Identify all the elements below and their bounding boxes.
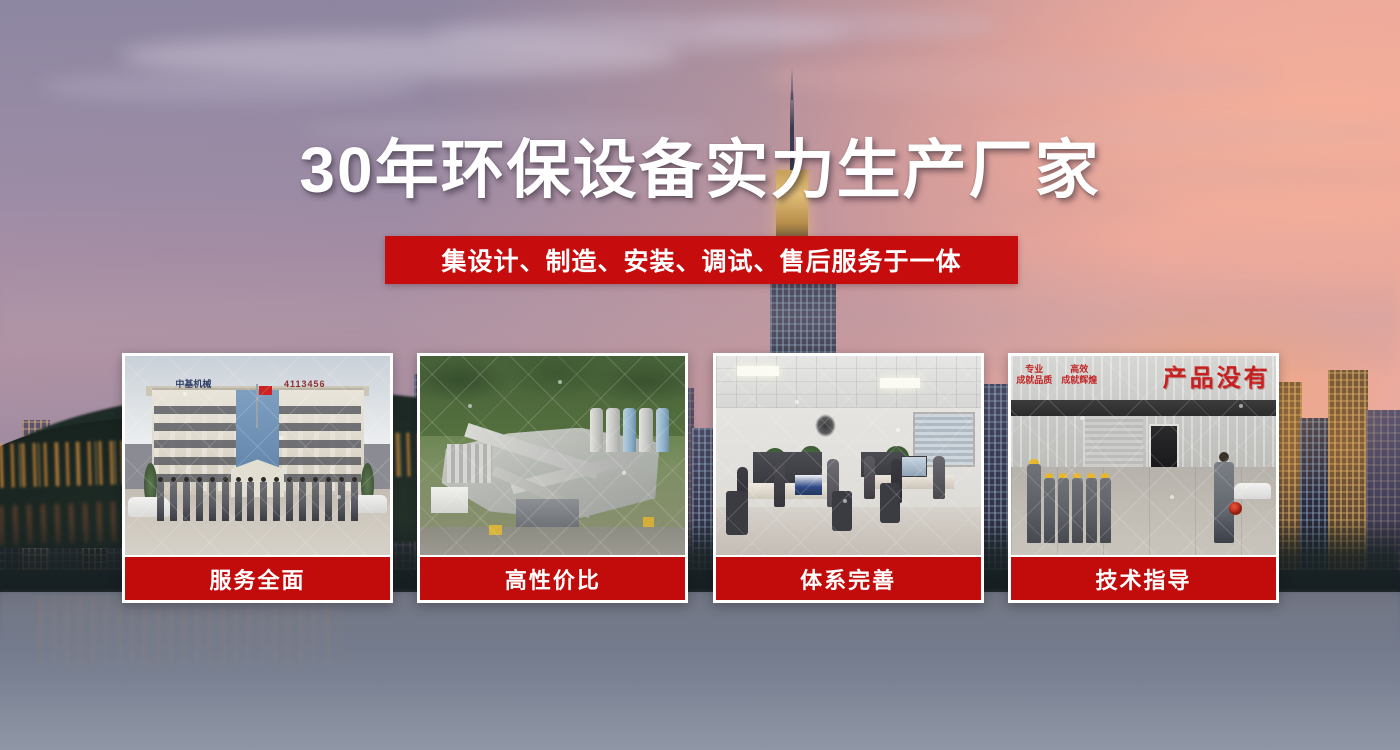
tower-spire-tip [791,68,793,100]
storage-silos [590,408,670,452]
card-photo-office-building: 中基机械 4113456 [125,356,390,555]
card-photo-workers-at-factory: 产品没有 专业成就品质 高效成就辉煌 [1011,356,1276,555]
photo-company-sign: 中基机械 [175,377,255,391]
feature-card[interactable]: 产品没有 专业成就品质 高效成就辉煌 [1008,353,1279,603]
page-title: 30年环保设备实力生产厂家 [0,132,1400,208]
cloud [700,12,1000,38]
banner-stage: 30年环保设备实力生产厂家 集设计、制造、安装、调试、售后服务于一体 中基机械 … [0,0,1400,750]
supervisor [1214,452,1234,544]
card-photo-office-interior [716,356,981,555]
card-caption: 服务全面 [125,555,390,600]
card-caption: 高性价比 [420,555,685,600]
factory-wall-headline: 产品没有 [1138,358,1271,394]
cloud [40,72,420,102]
feature-card[interactable]: 高性价比 [417,353,688,603]
staff-row [157,477,358,521]
feature-card[interactable]: 中基机械 4113456 [122,353,393,603]
feature-card[interactable]: 体系完善 [713,353,984,603]
photo-phone-number: 4113456 [284,377,371,391]
card-caption: 体系完善 [716,555,981,600]
factory-wall-slogans: 专业成就品质 高效成就辉煌 [1016,364,1122,400]
red-helmet [1229,502,1242,515]
subtitle-text: 集设计、制造、安装、调试、售后服务于一体 [441,242,961,278]
cloud [760,58,1280,98]
card-photo-industrial-plant [420,356,685,555]
worker-line [1027,459,1160,543]
subtitle-banner: 集设计、制造、安装、调试、售后服务于一体 [385,236,1018,284]
card-caption: 技术指导 [1011,555,1276,600]
water-reflection [40,596,340,666]
feature-card-row: 中基机械 4113456 [122,353,1279,603]
